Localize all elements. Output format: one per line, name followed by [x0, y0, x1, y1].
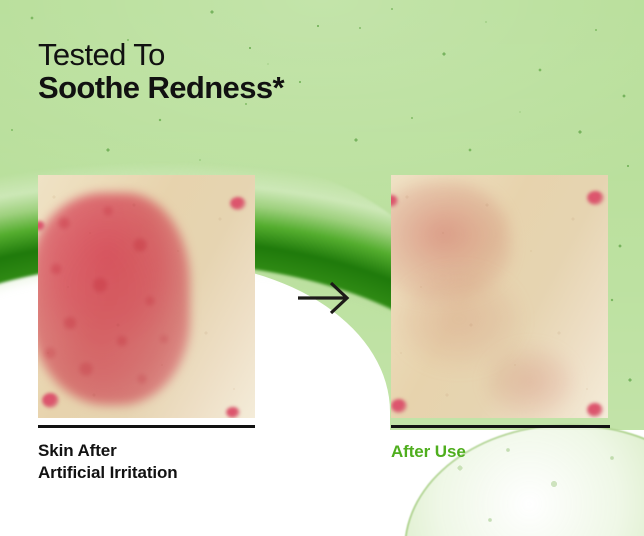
promo-banner: Tested To Soothe Redness* Skin After A [0, 0, 644, 536]
skin-blemish-dot [42, 393, 59, 408]
after-photo [391, 175, 608, 418]
skin-blemish-dot [230, 197, 246, 210]
before-photo [38, 175, 255, 418]
before-caption: Skin After Artificial Irritation [38, 440, 178, 485]
after-caption-rule [391, 425, 610, 428]
skin-blemish-dot [587, 403, 603, 417]
headline: Tested To Soothe Redness* [38, 38, 284, 105]
residual-redness-haze [399, 271, 519, 367]
arrow-right-icon [296, 280, 354, 316]
headline-line-2: Soothe Redness* [38, 71, 284, 104]
before-caption-rule [38, 425, 255, 428]
skin-blemish-dot [587, 191, 604, 205]
skin-blemish-dot [226, 407, 240, 418]
residual-redness-spot [487, 347, 573, 417]
headline-line-1: Tested To [38, 38, 284, 71]
irritation-mottling [38, 193, 190, 405]
after-caption: After Use [391, 441, 466, 463]
skin-blemish-dot [391, 399, 407, 413]
